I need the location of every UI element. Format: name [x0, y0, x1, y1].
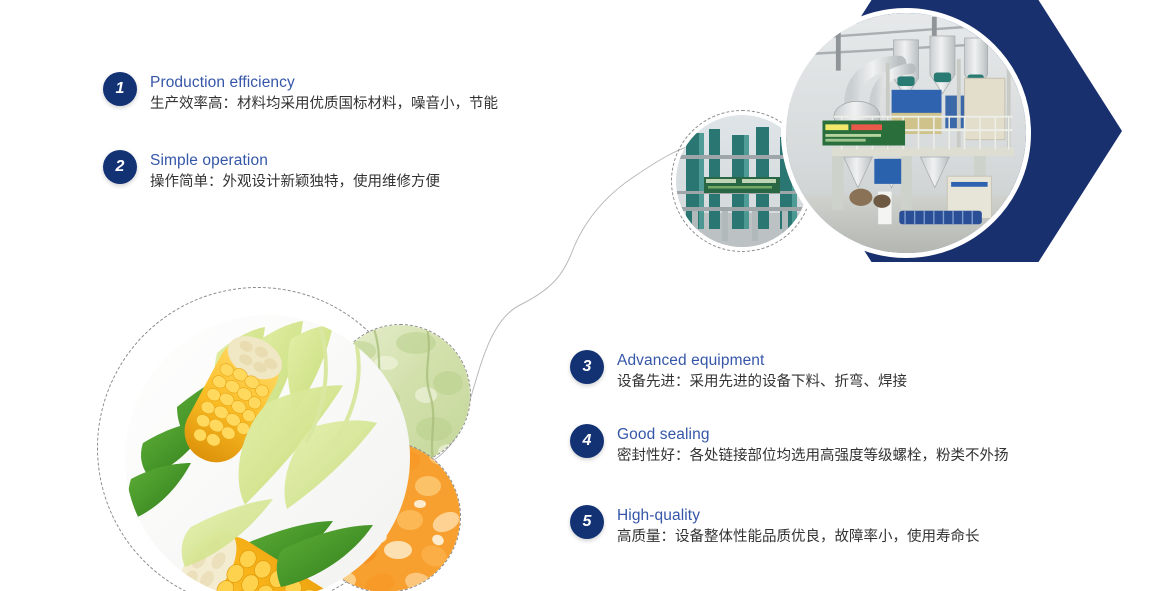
feature-item-2[interactable]: 2 Simple operation 操作简单：外观设计新颖独特，使用维修方便 — [103, 150, 440, 193]
feature-text-4: Good sealing 密封性好：各处链接部位均选用高强度等级螺栓，粉类不外扬 — [617, 424, 1009, 467]
feature-badge-2: 2 — [103, 150, 137, 184]
feature-desc-4: 密封性好：各处链接部位均选用高强度等级螺栓，粉类不外扬 — [617, 446, 1009, 467]
feature-item-1[interactable]: 1 Production efficiency 生产效率高：材料均采用优质国标材… — [103, 72, 498, 115]
feature-title-1: Production efficiency — [150, 73, 498, 93]
feature-item-5[interactable]: 5 High-quality 高质量：设备整体性能品质优良，故障率小，使用寿命长 — [570, 505, 980, 548]
corn-cob-photo — [125, 315, 410, 591]
feature-text-2: Simple operation 操作简单：外观设计新颖独特，使用维修方便 — [150, 150, 440, 193]
feature-text-5: High-quality 高质量：设备整体性能品质优良，故障率小，使用寿命长 — [617, 505, 980, 548]
feature-desc-2: 操作简单：外观设计新颖独特，使用维修方便 — [150, 172, 440, 193]
feature-desc-3: 设备先进：采用先进的设备下料、折弯、焊接 — [617, 372, 907, 393]
feature-item-3[interactable]: 3 Advanced equipment 设备先进：采用先进的设备下料、折弯、焊… — [570, 350, 907, 393]
infographic-canvas: 1 Production efficiency 生产效率高：材料均采用优质国标材… — [0, 0, 1154, 591]
flour-mill-photo — [781, 8, 1031, 258]
feature-title-2: Simple operation — [150, 151, 440, 171]
feature-text-1: Production efficiency 生产效率高：材料均采用优质国标材料，… — [150, 72, 498, 115]
feature-title-4: Good sealing — [617, 425, 1009, 445]
feature-text-3: Advanced equipment 设备先进：采用先进的设备下料、折弯、焊接 — [617, 350, 907, 393]
feature-item-4[interactable]: 4 Good sealing 密封性好：各处链接部位均选用高强度等级螺栓，粉类不… — [570, 424, 1009, 467]
feature-badge-3: 3 — [570, 350, 604, 384]
feature-desc-5: 高质量：设备整体性能品质优良，故障率小，使用寿命长 — [617, 527, 980, 548]
feature-title-3: Advanced equipment — [617, 351, 907, 371]
feature-badge-1: 1 — [103, 72, 137, 106]
feature-badge-5: 5 — [570, 505, 604, 539]
feature-desc-1: 生产效率高：材料均采用优质国标材料，噪音小，节能 — [150, 94, 498, 115]
feature-badge-4: 4 — [570, 424, 604, 458]
feature-title-5: High-quality — [617, 506, 980, 526]
